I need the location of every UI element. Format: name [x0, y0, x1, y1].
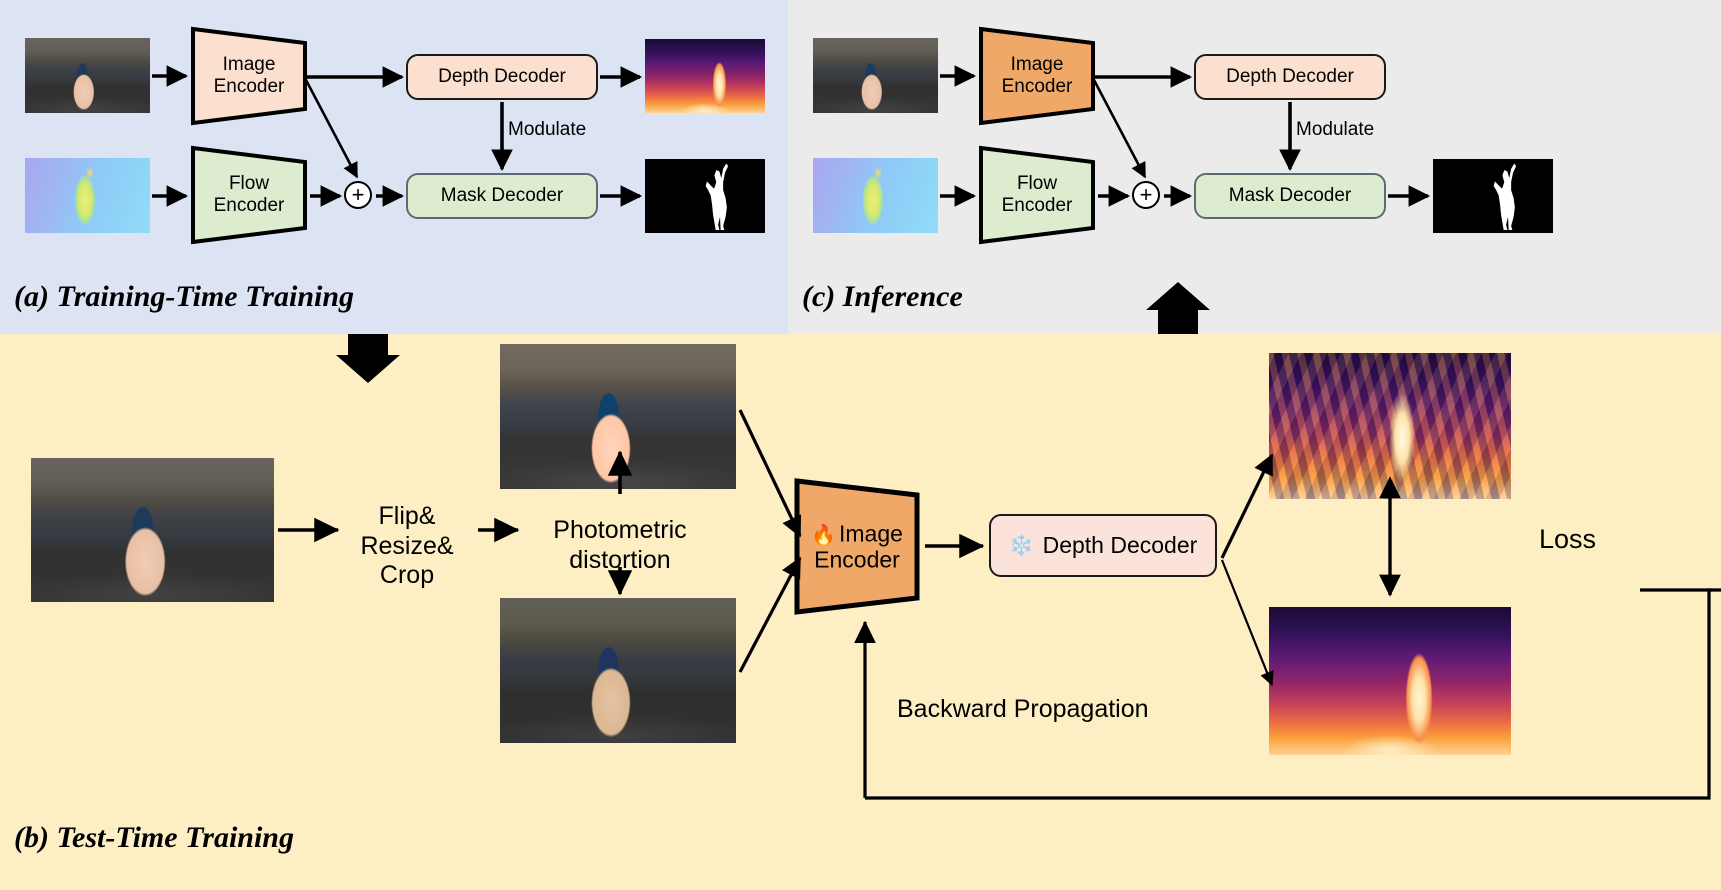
- figure-root: Image Encoder Flow Encoder + Depth Decod…: [0, 0, 1721, 890]
- panel-b-depth-decoder[interactable]: ❄️ Depth Decoder: [989, 514, 1217, 577]
- panel-c-input-image: [813, 38, 938, 113]
- panel-b-loss-label: Loss: [1539, 524, 1596, 556]
- panel-a-mask-decoder-label: Mask Decoder: [441, 185, 564, 207]
- panel-a-image-encoder[interactable]: Image Encoder: [190, 26, 308, 126]
- panel-b-depth-pred-2: [1269, 607, 1511, 755]
- panel-a-depth-decoder-label: Depth Decoder: [438, 66, 566, 88]
- panel-a-depth-decoder[interactable]: Depth Decoder: [406, 54, 598, 100]
- panel-a-input-image: [25, 38, 150, 113]
- panel-c-depth-decoder[interactable]: Depth Decoder: [1194, 54, 1386, 100]
- panel-c-modulate-label: Modulate: [1296, 119, 1374, 141]
- panel-b-depth-pred-1: [1269, 353, 1511, 499]
- panel-b-aug-view-2: [500, 598, 736, 743]
- panel-b-geometric-aug-label: Flip& Resize& Crop: [352, 502, 462, 591]
- panel-a-modulate-label: Modulate: [508, 119, 586, 141]
- mask-silhouette-icon: [1492, 163, 1523, 230]
- panel-inference: Image Encoder Flow Encoder + Depth Decod…: [788, 0, 1721, 334]
- panel-a-sum-node: +: [344, 181, 372, 209]
- plus-icon: +: [352, 184, 365, 206]
- panel-a-output-depth: [645, 39, 765, 113]
- panel-b-image-encoder[interactable]: 🔥Image Encoder: [793, 477, 921, 616]
- mask-silhouette-icon: [704, 163, 735, 230]
- panel-b-depth-decoder-label: Depth Decoder: [1043, 532, 1198, 559]
- panel-b-caption: (b) Test-Time Training: [14, 821, 294, 855]
- panel-c-mask-decoder[interactable]: Mask Decoder: [1194, 173, 1386, 219]
- panel-test-time-training: Flip& Resize& Crop Photometric distortio…: [0, 334, 1721, 890]
- panel-c-sum-node: +: [1132, 181, 1160, 209]
- panel-a-flow-encoder[interactable]: Flow Encoder: [190, 145, 308, 245]
- panel-a-output-mask: [645, 159, 765, 233]
- panel-training-time-training: Image Encoder Flow Encoder + Depth Decod…: [0, 0, 788, 334]
- plus-icon: +: [1140, 184, 1153, 206]
- panel-a-input-flow: [25, 158, 150, 233]
- panel-c-flow-encoder[interactable]: Flow Encoder: [978, 145, 1096, 245]
- panel-b-backward-label: Backward Propagation: [897, 695, 1149, 725]
- panel-c-depth-decoder-label: Depth Decoder: [1226, 66, 1354, 88]
- panel-c-output-mask: [1433, 159, 1553, 233]
- panel-b-aug-view-1: [500, 344, 736, 489]
- panel-c-image-encoder[interactable]: Image Encoder: [978, 26, 1096, 126]
- panel-c-mask-decoder-label: Mask Decoder: [1229, 185, 1352, 207]
- panel-a-caption: (a) Training-Time Training: [14, 280, 354, 314]
- panel-b-source-image: [31, 458, 274, 602]
- panel-a-mask-decoder[interactable]: Mask Decoder: [406, 173, 598, 219]
- panel-c-caption: (c) Inference: [802, 280, 963, 314]
- panel-c-input-flow: [813, 158, 938, 233]
- panel-b-photometric-aug-label: Photometric distortion: [524, 516, 716, 575]
- snowflake-icon: ❄️: [1009, 536, 1034, 556]
